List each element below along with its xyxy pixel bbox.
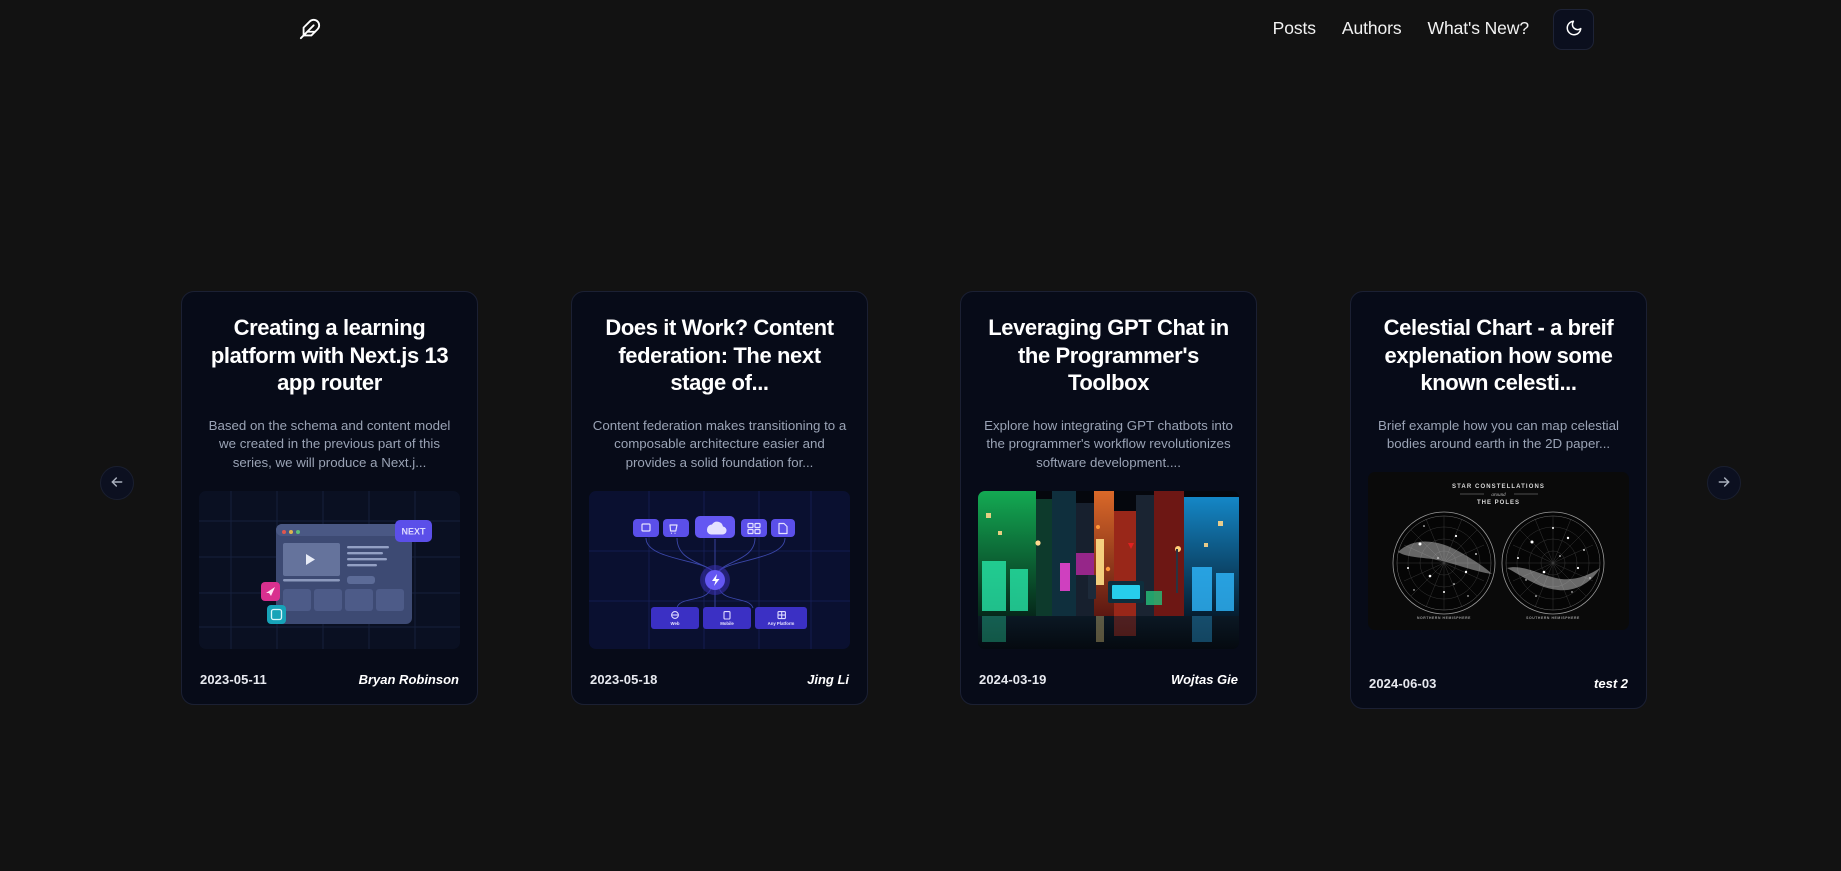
post-meta: 2023-05-18 Jing Li	[590, 658, 849, 704]
post-meta: 2024-03-19 Wojtas Gie	[979, 658, 1238, 704]
post-date: 2024-03-19	[979, 672, 1047, 687]
thumb-title-the-poles: THE POLES	[1477, 500, 1520, 506]
svg-text:NEXT: NEXT	[401, 527, 426, 537]
post-thumbnail: NEXT	[199, 491, 460, 649]
post-title: Celestial Chart - a breif explenation ho…	[1369, 314, 1628, 397]
post-excerpt: Content federation makes transitioning t…	[590, 417, 849, 474]
thumb-label-southern-hemisphere: SOUTHERN HEMISPHERE	[1526, 616, 1580, 620]
post-author: Bryan Robinson	[359, 672, 459, 687]
post-card[interactable]: Leveraging GPT Chat in the Programmer's …	[960, 291, 1257, 705]
thumb-label-any-platform: Any Platform	[768, 621, 795, 626]
carousel-track: Creating a learning platform with Next.j…	[0, 283, 1841, 703]
post-meta: 2024-06-03 test 2	[1369, 662, 1628, 708]
post-title: Does it Work? Content federation: The ne…	[590, 314, 849, 397]
post-card[interactable]: Celestial Chart - a breif explenation ho…	[1350, 291, 1647, 709]
thumb-label-mobile: Mobile	[720, 621, 734, 626]
post-title: Creating a learning platform with Next.j…	[200, 314, 459, 397]
post-date: 2024-06-03	[1369, 676, 1437, 691]
post-date: 2023-05-11	[200, 672, 267, 687]
post-author: Jing Li	[807, 672, 849, 687]
post-carousel: Creating a learning platform with Next.j…	[0, 0, 1841, 871]
post-excerpt: Explore how integrating GPT chatbots int…	[979, 417, 1238, 474]
post-meta: 2023-05-11 Bryan Robinson	[200, 658, 459, 704]
thumb-label-web: Web	[671, 621, 680, 626]
thumb-label-northern-hemisphere: NORTHERN HEMISPHERE	[1417, 616, 1471, 620]
post-thumbnail	[978, 491, 1239, 649]
post-card[interactable]: Creating a learning platform with Next.j…	[181, 291, 478, 705]
post-thumbnail: Web Mobile Any Platform	[589, 491, 850, 649]
post-excerpt: Based on the schema and content model we…	[200, 417, 459, 474]
post-date: 2023-05-18	[590, 672, 658, 687]
thumb-title-star-constellations: STAR CONSTELLATIONS	[1452, 484, 1545, 490]
post-author: Wojtas Gie	[1171, 672, 1238, 687]
post-excerpt: Brief example how you can map celestial …	[1369, 417, 1628, 455]
post-title: Leveraging GPT Chat in the Programmer's …	[979, 314, 1238, 397]
post-thumbnail: STAR CONSTELLATIONS around THE POLES	[1368, 472, 1629, 630]
thumb-label-around: around	[1491, 493, 1506, 498]
post-card[interactable]: Does it Work? Content federation: The ne…	[571, 291, 868, 705]
post-author: test 2	[1594, 676, 1628, 691]
